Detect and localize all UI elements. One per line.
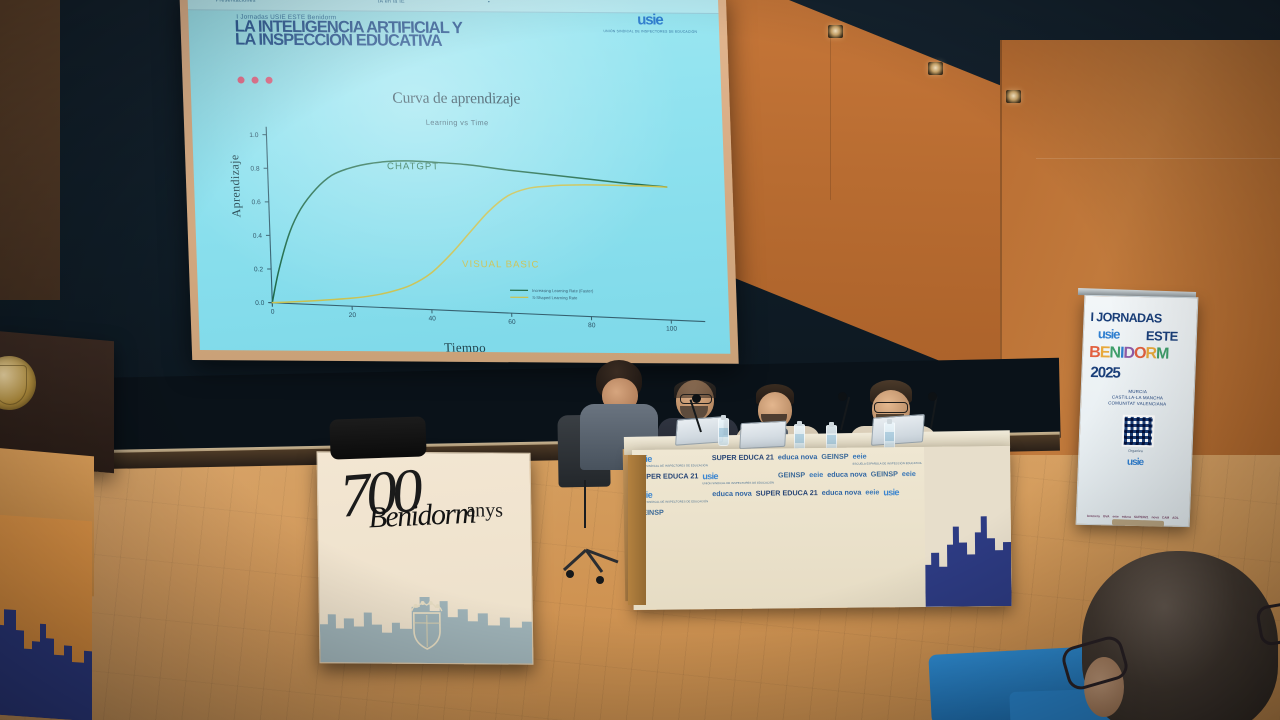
conference-photo-scene: Presentaciones IA en la IE • I Jornadas … (0, 0, 1280, 720)
table-skyline-panel (924, 446, 1012, 607)
projection-screen: Presentaciones IA en la IE • I Jornadas … (187, 0, 730, 354)
rollup-benidorm-letter: M (1156, 345, 1169, 362)
rollup-regions: MURCIACASTILLA-LA MANCHACOMUNITAT VALENC… (1081, 388, 1194, 408)
svg-text:0.4: 0.4 (253, 233, 263, 240)
microphone-icon (928, 392, 937, 401)
skyline-silhouette-icon (924, 486, 1011, 607)
rollup-sponsor-logo: bromera (1087, 514, 1100, 518)
svg-text:S-Shaped Learning Rate: S-Shaped Learning Rate (532, 295, 578, 300)
sponsor-logo-sub: ESCUELA ESPAÑOLA DE INSPECCIÓN EDUCATIVA (853, 460, 922, 469)
table-wood-edge (628, 455, 646, 605)
slide-dot (251, 77, 258, 84)
qr-code-icon[interactable] (1122, 415, 1155, 448)
svg-text:60: 60 (508, 319, 516, 326)
benidorm-coat-of-arms-icon (404, 597, 451, 653)
skyline-panel-left (0, 515, 92, 720)
rollup-usie-logo: usie (1098, 326, 1120, 341)
sponsor-logo: educa nova (827, 471, 867, 487)
svg-text:40: 40 (428, 315, 436, 322)
chair-post (584, 480, 586, 528)
sponsor-logo: GEINSP (778, 471, 805, 487)
sponsor-logo: eeieESCUELA ESPAÑOLA DE INSPECCIÓN EDUCA… (853, 452, 922, 469)
audience-member-foreground (1060, 545, 1280, 720)
rollup-benidorm-letter: B (1089, 344, 1100, 361)
rollup-sponsor-logo: educa (1122, 515, 1131, 519)
rollup-sponsor-logo: GVA (1103, 514, 1110, 518)
sign-700-city: Benidorm (367, 497, 475, 536)
rollup-benidorm-letter: D (1123, 345, 1134, 362)
chart-plot-area: 0.00.20.40.60.81.0020406080100CHATGPTVIS… (213, 92, 708, 345)
svg-text:Increasing Learning Rate (Fast: Increasing Learning Rate (Faster) (532, 288, 594, 293)
rollup-sponsor-logo: SUPER21 (1134, 515, 1149, 519)
left-wall-panel (0, 0, 60, 300)
sponsor-logo: educa nova (712, 490, 752, 506)
svg-text:0.2: 0.2 (254, 266, 264, 273)
learning-curve-chart: Curva de aprendizaje Learning vs Time Ap… (213, 92, 708, 345)
table-sponsor-banner: usieUNIÓN SINDICAL DE INSPECTORES DE EDU… (632, 446, 1012, 610)
water-bottle[interactable] (884, 422, 895, 450)
slide-dot (265, 77, 272, 84)
microphone-icon (692, 394, 701, 403)
ceiling-seam (830, 30, 831, 200)
sponsor-logo: usieUNIÓN SINDICAL DE INSPECTORES DE EDU… (636, 490, 708, 507)
slide-decor-dots (237, 77, 272, 84)
laptop[interactable] (871, 414, 923, 444)
rollup-este: ESTE (1146, 328, 1179, 344)
laptop-lid (871, 414, 925, 446)
usie-logo-tagline: UNIÓN SINDICAL DE INSPECTORES DE EDUCACI… (603, 29, 697, 34)
skyline-silhouette-icon (0, 595, 92, 720)
sponsor-logo: eeie (902, 470, 916, 486)
slide-topbar-left: Presentaciones (216, 0, 256, 4)
sponsor-logo-grid: usieUNIÓN SINDICAL DE INSPECTORES DE EDU… (632, 447, 934, 610)
svg-text:1.0: 1.0 (249, 132, 259, 139)
rollup-sponsor-logo: nova (1151, 515, 1159, 519)
rollup-benidorm-letter: R (1145, 345, 1156, 362)
benidorm-700-sign: 700 anys Benidorm (316, 451, 533, 664)
ceiling-spotlight-icon (828, 25, 843, 38)
slide-topbar-right: • (488, 0, 490, 5)
svg-text:100: 100 (666, 326, 678, 333)
sponsor-logo-sub: UNIÓN SINDICAL DE INSPECTORES DE EDUCACI… (636, 462, 708, 471)
slide-topbar-center: IA en la IE (378, 0, 405, 5)
svg-text:CHATGPT: CHATGPT (387, 161, 440, 172)
laptop-lid (739, 421, 786, 450)
usie-logo: usie UNIÓN SINDICAL DE INSPECTORES DE ED… (603, 13, 697, 34)
rollup-year: 2025 (1090, 364, 1120, 382)
sponsor-logo: eeie (865, 488, 879, 504)
svg-text:0: 0 (271, 309, 275, 316)
sponsor-logo: eeie (809, 471, 823, 487)
rollup-benidorm-letter: N (1109, 344, 1120, 361)
rollup-usie-footer: usie (1079, 456, 1191, 469)
svg-text:80: 80 (588, 322, 596, 329)
svg-text:0.0: 0.0 (255, 300, 265, 307)
stage-monitor-speaker (329, 416, 426, 459)
sponsor-logo-sub: UNIÓN SINDICAL DE INSPECTORES DE EDUCACI… (702, 480, 774, 489)
rollup-organiza-label: Organiza (1079, 448, 1191, 454)
svg-text:VISUAL BASIC: VISUAL BASIC (462, 259, 540, 271)
ceiling-spotlight-icon (1006, 90, 1021, 103)
water-bottle[interactable] (718, 418, 729, 446)
sponsor-logo: SUPER EDUCA 21 (712, 454, 774, 471)
rollup-banner: I JORNADAS usie ESTE BENIDORM 2025 MURCI… (1076, 295, 1199, 527)
glasses-icon (874, 402, 908, 413)
laptop[interactable] (739, 421, 784, 447)
slide-dot (237, 77, 244, 84)
sponsor-logo: GEINSP (871, 470, 898, 486)
sponsor-logo: usie (883, 488, 899, 504)
microphone-icon (838, 392, 847, 401)
usie-logo-word: usie (603, 13, 697, 28)
rollup-region: COMUNITAT VALENCIANA (1081, 400, 1193, 408)
rollup-line1: I JORNADAS (1090, 310, 1162, 325)
slide-title: LA INTELIGENCIA ARTIFICIAL Y LA INSPECCI… (234, 21, 465, 48)
sponsor-logo: SUPER EDUCA 21 (756, 489, 818, 506)
projection-screen-frame: Presentaciones IA en la IE • I Jornadas … (179, 0, 738, 364)
rollup-benidorm: BENIDORM (1089, 344, 1169, 364)
svg-text:20: 20 (349, 312, 357, 319)
rollup-sponsor-logo: CAM (1162, 516, 1169, 520)
sponsor-logo: GEINSP (821, 453, 848, 469)
svg-text:0.8: 0.8 (250, 166, 260, 173)
sponsor-logo: educa nova (822, 489, 862, 505)
rollup-sponsor-logo: eeie (1112, 514, 1118, 518)
sponsor-logo: educa nova (778, 453, 818, 469)
sponsor-logo: usieUNIÓN SINDICAL DE INSPECTORES DE EDU… (702, 472, 774, 489)
svg-text:0.6: 0.6 (252, 199, 262, 206)
sponsor-logo-sub: UNIÓN SINDICAL DE INSPECTORES DE EDUCACI… (637, 498, 709, 507)
rollup-sponsor-logo: ADL (1172, 516, 1179, 520)
sponsor-logo: usieUNIÓN SINDICAL DE INSPECTORES DE EDU… (636, 454, 708, 471)
ceiling-spotlight-icon (928, 62, 943, 75)
